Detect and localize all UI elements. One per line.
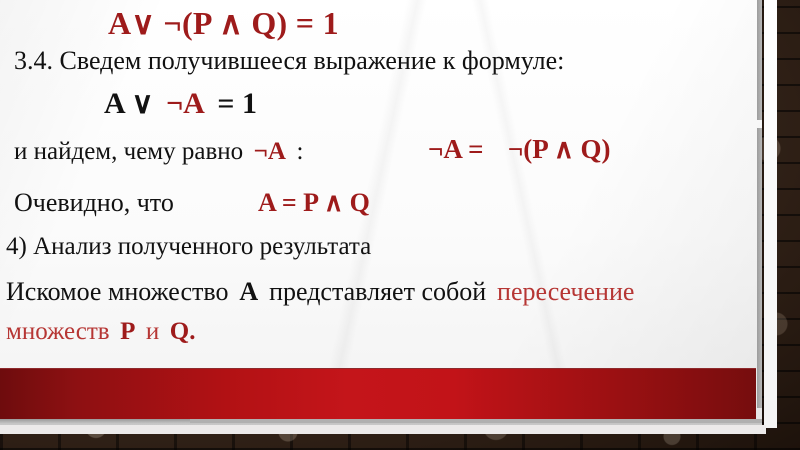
conclusion-highlight: пересечение [497,277,634,306]
find-suffix: : [296,138,303,165]
step-4-text: 4) Анализ полученного результата [6,233,371,261]
not-a-rhs: ¬(P ∧ Q) [508,134,611,164]
find-symbol: ¬A [254,138,286,165]
formula2-rhs: = 1 [217,87,257,120]
formula-top: A∨ ¬(P ∧ Q) = 1 [108,4,339,42]
find-prefix: и найдем, чему равно [14,138,243,165]
conclusion-set-q: Q. [170,318,196,345]
conclusion-part2: представляет собой [269,277,486,306]
bottom-white-edge [0,425,766,434]
step-3-4-text: 3.4. Сведем получившееся выражение к фор… [14,46,564,76]
formula2-negation: ¬A [166,87,205,120]
not-a-lhs: ¬A = [428,134,484,164]
equation-a-equals: A = P ∧ Q [258,188,370,218]
formula2-lhs: A ∨ [104,87,153,120]
right-white-margin [764,0,777,428]
conclusion-conjunction: и [146,318,159,345]
conclusion-set-p: P [120,318,135,345]
formula-a-or-not-a: A ∨¬A= 1 [104,86,257,121]
conclusion-part1: Искомое множество [6,277,228,306]
find-not-a-line: и найдем, чему равно¬A: [14,138,303,166]
slide-canvas: A∨ ¬(P ∧ Q) = 1 3.4. Сведем получившееся… [0,0,800,450]
bottom-red-accent-bar [0,368,756,420]
bottom-gray-rail-inner [190,419,762,423]
conclusion-line-1: Искомое множествоAпредставляет собойпере… [6,277,634,307]
right-accent-strip-lower [757,128,762,408]
conclusion-part3: множеств [6,318,110,345]
conclusion-line-2: множествPиQ. [6,318,195,346]
obvious-prefix: Очевидно, что [14,188,174,218]
right-accent-strip-upper [757,0,762,120]
equation-not-a: ¬A =¬(P ∧ Q) [428,134,610,165]
conclusion-set-a: A [239,277,258,306]
